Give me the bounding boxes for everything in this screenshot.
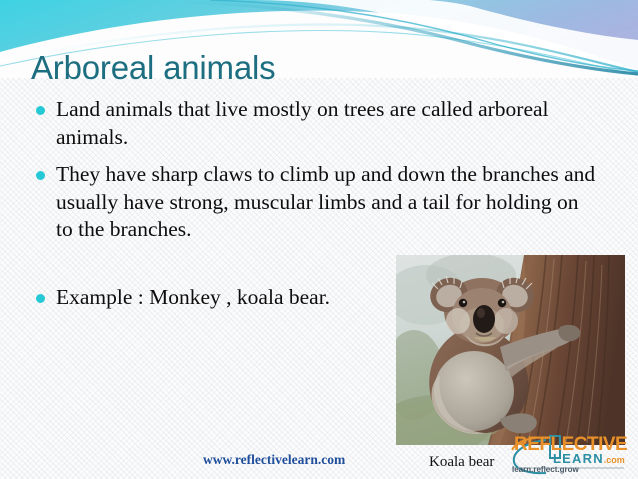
list-item: Land animals that live mostly on trees a… (30, 96, 596, 151)
logo-learn-text: LEARN.com (553, 451, 625, 466)
logo-learn-label: LEARN (553, 451, 604, 466)
bullet-list: Land animals that live mostly on trees a… (30, 96, 610, 315)
logo-tagline: learn.reflect.grow (512, 465, 579, 474)
list-item: They have sharp claws to climb up and do… (30, 161, 596, 244)
logo-dotcom-label: .com (604, 455, 625, 465)
presentation-slide: Arboreal animals Land animals that live … (0, 0, 638, 479)
footer-website-url[interactable]: www.reflectivelearn.com (203, 452, 345, 468)
image-caption: Koala bear (429, 453, 494, 471)
list-item: Example : Monkey , koala bear. (30, 284, 456, 312)
page-title: Arboreal animals (31, 49, 275, 87)
reflectivelearn-logo: REFLECTIVE LEARN.com learn.reflect.grow (506, 432, 634, 476)
